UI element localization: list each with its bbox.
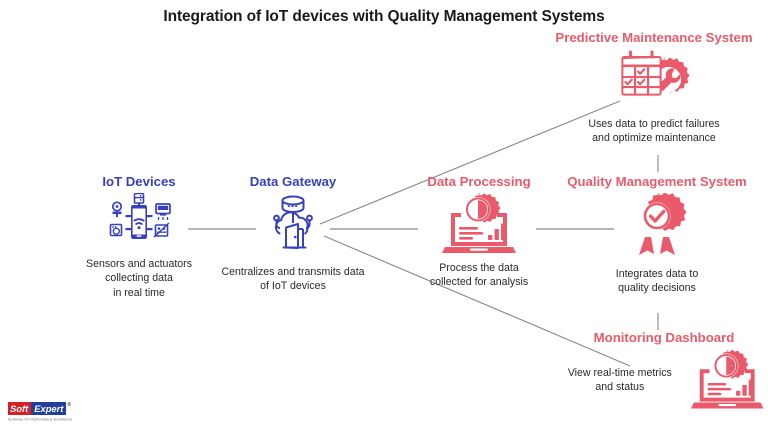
quality-badge-icon <box>625 193 689 259</box>
calendar-gear-wrench-icon <box>618 49 690 111</box>
node-label-quality-management-system: Quality Management System <box>548 174 766 189</box>
node-data-processing[interactable]: Data Processing <box>400 174 558 290</box>
node-description-monitoring-dashboard: View real-time metrics and status <box>560 366 680 395</box>
laptop-analytics-icon <box>686 349 768 411</box>
node-description-predictive-maintenance-system: Uses data to predict failures and optimi… <box>540 117 768 146</box>
page-title: Integration of IoT devices with Quality … <box>0 8 768 26</box>
iot-devices-icon <box>104 193 174 251</box>
node-description-data-processing: Process the data collected for analysis <box>400 261 558 290</box>
logo-wordmark: Soft Expert ® <box>8 402 88 415</box>
node-label-data-gateway: Data Gateway <box>200 174 386 189</box>
node-label-monitoring-dashboard: Monitoring Dashboard <box>560 330 768 345</box>
node-predictive-maintenance-system[interactable]: Predictive Maintenance System <box>540 30 768 146</box>
node-monitoring-dashboard[interactable]: Monitoring Dashboard View real-time metr… <box>560 330 768 411</box>
logo-tagline: Software for Performance Excellence <box>8 417 88 421</box>
diagram-canvas: Integration of IoT devices with Quality … <box>0 0 768 437</box>
node-data-gateway[interactable]: Data Gateway <box>200 174 386 294</box>
cloud-gateway-icon <box>262 193 324 255</box>
node-description-data-gateway: Centralizes and transmits data of IoT de… <box>200 265 386 294</box>
node-description-quality-management-system: Integrates data to quality decisions <box>548 267 766 296</box>
softexpert-logo: Soft Expert ® Software for Performance E… <box>8 402 88 421</box>
laptop-analytics-icon <box>437 193 521 255</box>
node-label-data-processing: Data Processing <box>400 174 558 189</box>
logo-expert-text: Expert <box>31 402 66 415</box>
logo-trademark: ® <box>67 402 71 408</box>
node-label-predictive-maintenance-system: Predictive Maintenance System <box>540 30 768 45</box>
logo-soft-text: Soft <box>8 402 31 415</box>
node-quality-management-system[interactable]: Quality Management System Integrates dat… <box>548 174 766 296</box>
